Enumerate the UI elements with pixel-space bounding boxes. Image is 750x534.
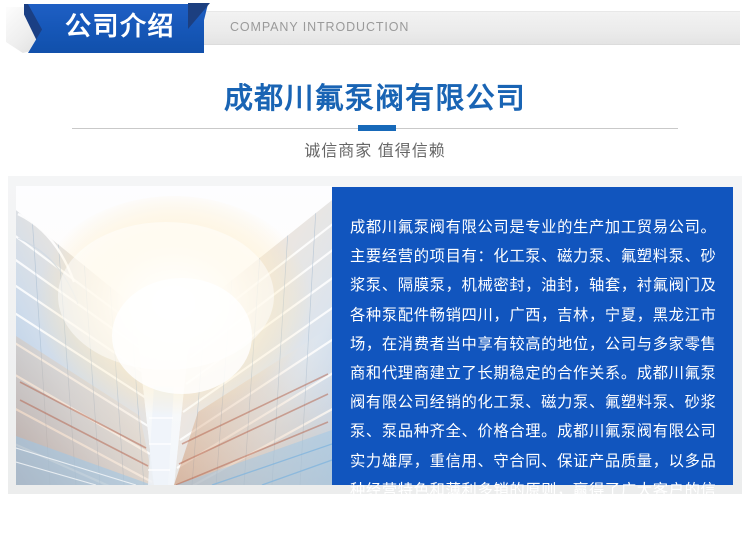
company-description-box: 成都川氟泵阀有限公司是专业的生产加工贸易公司。主要经营的项目有：化工泵、磁力泵、… xyxy=(332,187,733,485)
page-title: 成都川氟泵阀有限公司 xyxy=(0,80,750,118)
company-photo xyxy=(16,186,332,485)
page-subtitle: 诚信商家 值得信赖 xyxy=(0,140,750,164)
section-ribbon-label: 公司介绍 xyxy=(44,9,196,43)
page-header: COMPANY INTRODUCTION 公司介绍 xyxy=(0,0,750,60)
title-divider-accent xyxy=(358,125,396,131)
header-eyebrow-text: COMPANY INTRODUCTION xyxy=(230,20,409,34)
skyscraper-photo-icon xyxy=(16,186,332,485)
company-description-text: 成都川氟泵阀有限公司是专业的生产加工贸易公司。主要经营的项目有：化工泵、磁力泵、… xyxy=(350,213,716,534)
